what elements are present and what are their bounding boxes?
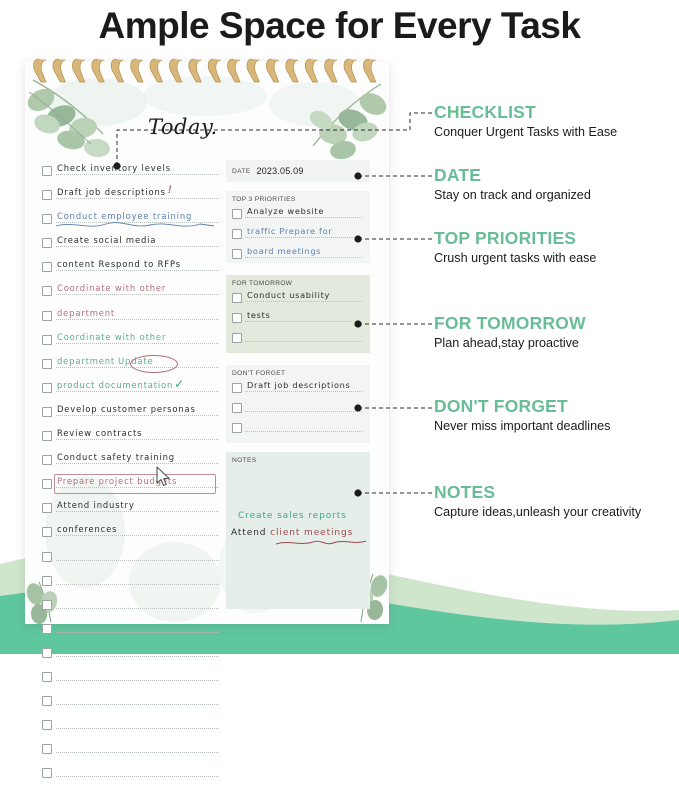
checklist-dotted-rule bbox=[56, 463, 219, 464]
checklist-dotted-rule bbox=[56, 776, 219, 777]
checklist-row[interactable]: content Respond to RFPs bbox=[42, 256, 217, 280]
panel-checkbox[interactable] bbox=[232, 403, 242, 413]
panel-checkbox[interactable] bbox=[232, 209, 242, 219]
checklist-row[interactable] bbox=[42, 570, 217, 594]
checklist-dotted-rule bbox=[56, 343, 219, 344]
checklist-row[interactable] bbox=[42, 738, 217, 762]
checklist-checkbox[interactable] bbox=[42, 166, 52, 176]
panel-item-label: traffic Prepare for bbox=[247, 226, 332, 237]
checklist-checkbox[interactable] bbox=[42, 190, 52, 200]
panel-dotted-rule bbox=[245, 237, 362, 238]
panel-dotted-rule bbox=[245, 391, 362, 392]
checklist-column: Check inventory levelsDraft job descript… bbox=[42, 160, 217, 786]
checklist-checkbox[interactable] bbox=[42, 335, 52, 345]
panel-tomorrow-rows: Conduct usabilitytests bbox=[232, 289, 364, 349]
checklist-row[interactable]: Coordinate with other bbox=[42, 280, 217, 304]
eucalyptus-top-left-icon bbox=[25, 80, 111, 158]
checklist-checkbox[interactable] bbox=[42, 552, 52, 562]
checklist-checkbox[interactable] bbox=[42, 407, 52, 417]
checklist-row[interactable]: Create social media bbox=[42, 232, 217, 256]
checklist-dotted-rule bbox=[56, 319, 219, 320]
callout-tomorrow-subtitle: Plan ahead,stay proactive bbox=[434, 335, 586, 351]
checklist-row[interactable] bbox=[42, 546, 217, 570]
checklist-dotted-rule bbox=[56, 174, 219, 175]
callout-top-priorities: TOP PRIORITIES Crush urgent tasks with e… bbox=[434, 228, 596, 266]
callout-forget-subtitle: Never miss important deadlines bbox=[434, 418, 610, 434]
panel-forget-row[interactable] bbox=[232, 399, 364, 419]
checklist-item-label: Attend industry bbox=[57, 499, 135, 511]
callout-notes-subtitle: Capture ideas,unleash your creativity bbox=[434, 504, 659, 520]
checklist-item-label: product documentation bbox=[57, 379, 173, 391]
checklist-item-label: department bbox=[57, 355, 115, 367]
panel-checkbox[interactable] bbox=[232, 333, 242, 343]
checklist-row[interactable]: Conduct safety training bbox=[42, 449, 217, 473]
panel-checkbox[interactable] bbox=[232, 383, 242, 393]
today-heading: Today. bbox=[148, 115, 218, 139]
eucalyptus-top-right-icon bbox=[307, 84, 389, 161]
checklist-item-label: Check inventory levels bbox=[57, 162, 171, 174]
notes-line-2[interactable]: Attend client meetings bbox=[231, 528, 353, 538]
callout-checklist: CHECKLIST Conquer Urgent Tasks with Ease bbox=[434, 102, 617, 140]
panel-dont-forget: DON'T FORGET Draft job descriptions bbox=[226, 365, 370, 443]
panel-item-label: Analyze website bbox=[247, 206, 324, 217]
checklist-item-label: Conduct safety training bbox=[57, 451, 175, 463]
checklist-item-label: Review contracts bbox=[57, 427, 142, 439]
checklist-checkbox[interactable] bbox=[42, 503, 52, 513]
panel-checkbox[interactable] bbox=[232, 229, 242, 239]
checklist-checkbox[interactable] bbox=[42, 383, 52, 393]
checklist-row[interactable]: Review contracts bbox=[42, 425, 217, 449]
checklist-row[interactable]: product documentation✓ bbox=[42, 377, 217, 401]
panel-for-tomorrow: FOR TOMORROW Conduct usabilitytests bbox=[226, 275, 370, 353]
panel-notes-title: NOTES bbox=[232, 457, 364, 464]
checklist-item-label: Create social media bbox=[57, 234, 156, 246]
panel-item-label: tests bbox=[247, 310, 271, 321]
checklist-dotted-rule bbox=[56, 415, 219, 416]
checklist-checkbox[interactable] bbox=[42, 768, 52, 778]
checklist-checkbox[interactable] bbox=[42, 431, 52, 441]
checklist-row[interactable]: Attend industry bbox=[42, 497, 217, 521]
panel-tomorrow-title: FOR TOMORROW bbox=[232, 280, 364, 287]
checklist-dotted-rule bbox=[56, 391, 219, 392]
checklist-dotted-rule bbox=[56, 535, 219, 536]
notes-line-2-plain: Attend bbox=[231, 528, 270, 538]
checklist-row[interactable]: conferences bbox=[42, 521, 217, 545]
check-icon: ✓ bbox=[174, 377, 184, 391]
checklist-dotted-rule bbox=[56, 246, 219, 247]
panel-priorities-row[interactable]: traffic Prepare for bbox=[232, 225, 364, 245]
panel-date-title: DATE bbox=[232, 168, 251, 175]
checklist-checkbox[interactable] bbox=[42, 576, 52, 586]
checklist-item-label: Develop customer personas bbox=[57, 403, 196, 415]
checklist-dotted-rule bbox=[56, 656, 219, 657]
callout-notes-title: NOTES bbox=[434, 482, 659, 502]
panel-dotted-rule bbox=[245, 257, 362, 258]
checklist-checkbox[interactable] bbox=[42, 311, 52, 321]
checklist-checkbox[interactable] bbox=[42, 262, 52, 272]
checklist-checkbox[interactable] bbox=[42, 286, 52, 296]
panel-checkbox[interactable] bbox=[232, 313, 242, 323]
checklist-item-label: Coordinate with other bbox=[57, 282, 166, 294]
panel-checkbox[interactable] bbox=[232, 249, 242, 259]
panel-checkbox[interactable] bbox=[232, 293, 242, 303]
checklist-checkbox[interactable] bbox=[42, 744, 52, 754]
checklist-checkbox[interactable] bbox=[42, 527, 52, 537]
checklist-checkbox[interactable] bbox=[42, 455, 52, 465]
panel-dotted-rule bbox=[245, 301, 362, 302]
panel-tomorrow-row[interactable]: tests bbox=[232, 309, 364, 329]
checklist-checkbox[interactable] bbox=[42, 672, 52, 682]
checklist-item-label: department bbox=[57, 307, 115, 319]
panel-forget-rows: Draft job descriptions bbox=[232, 379, 364, 439]
panel-forget-row[interactable] bbox=[232, 419, 364, 439]
callout-date-title: DATE bbox=[434, 165, 591, 185]
checklist-row[interactable]: Develop customer personas bbox=[42, 401, 217, 425]
notes-line-1[interactable]: Create sales reports bbox=[238, 511, 347, 521]
checklist-dotted-rule bbox=[56, 584, 219, 585]
panel-priorities-rows: Analyze websitetraffic Prepare forboard … bbox=[232, 205, 364, 265]
checklist-dotted-rule bbox=[56, 680, 219, 681]
checklist-row[interactable] bbox=[42, 714, 217, 738]
page-headline: Ample Space for Every Task bbox=[0, 0, 679, 52]
panel-dotted-rule bbox=[245, 321, 362, 322]
checklist-item-label: Draft job descriptions bbox=[57, 186, 166, 198]
checklist-row[interactable]: department bbox=[42, 305, 217, 329]
panel-top-priorities: TOP 3 PRIORITIES Analyze websitetraffic … bbox=[226, 191, 370, 263]
callout-priorities-title: TOP PRIORITIES bbox=[434, 228, 596, 248]
callout-checklist-title: CHECKLIST bbox=[434, 102, 617, 122]
callout-for-tomorrow: FOR TOMORROW Plan ahead,stay proactive bbox=[434, 313, 586, 351]
panel-forget-title: DON'T FORGET bbox=[232, 370, 364, 377]
checklist-checkbox[interactable] bbox=[42, 479, 52, 489]
checklist-checkbox[interactable] bbox=[42, 648, 52, 658]
callout-notes: NOTES Capture ideas,unleash your creativ… bbox=[434, 482, 659, 520]
panel-item-label: Conduct usability bbox=[247, 290, 330, 301]
checklist-checkbox[interactable] bbox=[42, 238, 52, 248]
panel-priorities-title: TOP 3 PRIORITIES bbox=[232, 196, 364, 203]
panel-tomorrow-row[interactable] bbox=[232, 329, 364, 349]
panel-dotted-rule bbox=[245, 341, 362, 342]
checklist-row[interactable]: Coordinate with other bbox=[42, 329, 217, 353]
checklist-row[interactable]: Check inventory levels bbox=[42, 160, 217, 184]
checklist-checkbox[interactable] bbox=[42, 600, 52, 610]
checklist-checkbox[interactable] bbox=[42, 214, 52, 224]
callout-priorities-subtitle: Crush urgent tasks with ease bbox=[434, 250, 596, 266]
checklist-row[interactable] bbox=[42, 618, 217, 642]
checklist-dotted-rule bbox=[56, 367, 219, 368]
notes-line-2-highlight: client meetings bbox=[270, 528, 353, 538]
checklist-dotted-rule bbox=[56, 294, 219, 295]
checklist-item-label: Prepare project budgets bbox=[57, 475, 177, 487]
panel-dotted-rule bbox=[245, 411, 362, 412]
checklist-item-label: Conduct employee training bbox=[57, 210, 192, 222]
checklist-dotted-rule bbox=[56, 198, 219, 199]
panel-date-value[interactable]: 2023.05.09 bbox=[257, 166, 304, 176]
panel-dotted-rule bbox=[245, 431, 362, 432]
checklist-row[interactable]: Conduct employee training bbox=[42, 208, 217, 232]
checklist-dotted-rule bbox=[56, 270, 219, 271]
callout-date-subtitle: Stay on track and organized bbox=[434, 187, 591, 203]
checklist-dotted-rule bbox=[56, 222, 219, 223]
checklist-dotted-rule bbox=[56, 608, 219, 609]
checklist-item-label: content Respond to RFPs bbox=[57, 258, 181, 270]
checklist-row[interactable] bbox=[42, 594, 217, 618]
checklist-dotted-rule bbox=[56, 704, 219, 705]
callout-tomorrow-title: FOR TOMORROW bbox=[434, 313, 586, 333]
panel-date: DATE 2023.05.09 bbox=[226, 160, 370, 182]
checklist-dotted-rule bbox=[56, 752, 219, 753]
callout-checklist-subtitle: Conquer Urgent Tasks with Ease bbox=[434, 124, 617, 140]
panel-priorities-row[interactable]: board meetings bbox=[232, 245, 364, 265]
panel-dotted-rule bbox=[245, 217, 362, 218]
checklist-row[interactable] bbox=[42, 762, 217, 786]
checklist-row[interactable] bbox=[42, 666, 217, 690]
notes-underline-squiggle bbox=[275, 538, 367, 547]
checklist-row[interactable] bbox=[42, 690, 217, 714]
checklist-row[interactable]: departmentUpdate bbox=[42, 353, 217, 377]
checklist-dotted-rule bbox=[56, 487, 219, 488]
checklist-item-label: conferences bbox=[57, 523, 117, 535]
panel-priorities-row[interactable]: Analyze website bbox=[232, 205, 364, 225]
panel-checkbox[interactable] bbox=[232, 423, 242, 433]
checklist-checkbox[interactable] bbox=[42, 359, 52, 369]
checklist-dotted-rule bbox=[56, 560, 219, 561]
callout-date: DATE Stay on track and organized bbox=[434, 165, 591, 203]
panel-item-label: Draft job descriptions bbox=[247, 380, 351, 391]
checklist-dotted-rule bbox=[56, 728, 219, 729]
checklist-dotted-rule bbox=[56, 439, 219, 440]
panel-item-label: board meetings bbox=[247, 246, 321, 257]
callout-dont-forget: DON'T FORGET Never miss important deadli… bbox=[434, 396, 610, 434]
checklist-checkbox[interactable] bbox=[42, 624, 52, 634]
checklist-item-label: Coordinate with other bbox=[57, 331, 166, 343]
checklist-dotted-rule bbox=[56, 632, 219, 633]
callout-forget-title: DON'T FORGET bbox=[434, 396, 610, 416]
panel-notes: NOTES Create sales reports Attend client… bbox=[226, 452, 370, 609]
exclamation-icon: ! bbox=[168, 184, 172, 196]
panel-tomorrow-row[interactable]: Conduct usability bbox=[232, 289, 364, 309]
checklist-row[interactable]: Prepare project budgets bbox=[42, 473, 217, 497]
panel-forget-row[interactable]: Draft job descriptions bbox=[232, 379, 364, 399]
checklist-row[interactable]: Draft job descriptions! bbox=[42, 184, 217, 208]
checklist-dotted-rule bbox=[56, 511, 219, 512]
checklist-checkbox[interactable] bbox=[42, 720, 52, 730]
checklist-item-annotation: Update bbox=[118, 355, 153, 367]
checklist-checkbox[interactable] bbox=[42, 696, 52, 706]
